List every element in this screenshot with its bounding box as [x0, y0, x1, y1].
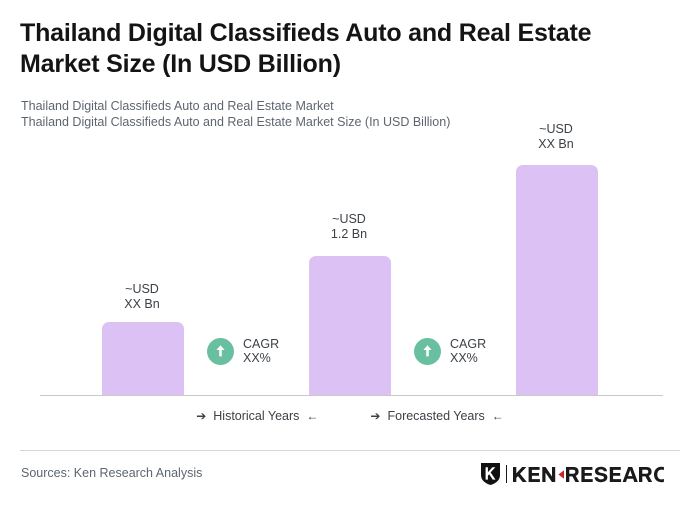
ken-shield-icon [480, 462, 501, 486]
cagr-badge-2-line1: CAGR [450, 337, 486, 351]
bar-label-3: ~USD XX Bn [496, 122, 616, 151]
footer-divider [20, 450, 680, 451]
bar-forecast[interactable] [516, 165, 598, 395]
bar-label-2: ~USD 1.2 Bn [289, 212, 409, 241]
period-forecasted-label: Forecasted Years [387, 409, 484, 423]
chart-plot-area: ~USD XX Bn CAGR XX% ~USD 1.2 Bn [0, 110, 700, 400]
period-captions: ➔ Historical Years ← ➔ Forecasted Years … [0, 409, 700, 423]
arrow-right-icon: ➔ [196, 410, 206, 422]
bar-historical[interactable] [102, 322, 184, 395]
bar-label-1: ~USD XX Bn [82, 282, 202, 311]
chart-baseline [40, 395, 663, 396]
cagr-badge-2[interactable]: CAGR XX% [414, 337, 486, 365]
arrow-up-icon [207, 338, 234, 365]
bar-label-3-line2: XX Bn [496, 137, 616, 152]
logo-divider [506, 465, 508, 483]
bar-base-year[interactable] [309, 256, 391, 395]
bar-label-2-line1: ~USD [289, 212, 409, 227]
sources-text: Sources: Ken Research Analysis [21, 466, 202, 480]
cagr-badge-2-text: CAGR XX% [450, 337, 486, 365]
cagr-badge-1-text: CAGR XX% [243, 337, 279, 365]
arrow-right-icon: ➔ [370, 410, 380, 422]
period-historical: ➔ Historical Years ← [196, 409, 318, 423]
arrow-left-icon: ← [306, 410, 318, 422]
chart-page: Thailand Digital Classifieds Auto and Re… [0, 0, 700, 520]
cagr-badge-1[interactable]: CAGR XX% [207, 337, 279, 365]
ken-research-wordmark [512, 466, 664, 483]
bar-label-1-line1: ~USD [82, 282, 202, 297]
cagr-badge-1-line1: CAGR [243, 337, 279, 351]
arrow-up-icon [414, 338, 441, 365]
ken-research-logo [480, 462, 665, 486]
period-historical-label: Historical Years [213, 409, 299, 423]
page-title: Thailand Digital Classifieds Auto and Re… [20, 18, 660, 80]
bar-label-2-line2: 1.2 Bn [289, 227, 409, 242]
bar-label-1-line2: XX Bn [82, 297, 202, 312]
cagr-badge-1-line2: XX% [243, 351, 279, 365]
bar-label-3-line1: ~USD [496, 122, 616, 137]
period-forecasted: ➔ Forecasted Years ← [370, 409, 503, 423]
arrow-left-icon: ← [492, 410, 504, 422]
cagr-badge-2-line2: XX% [450, 351, 486, 365]
